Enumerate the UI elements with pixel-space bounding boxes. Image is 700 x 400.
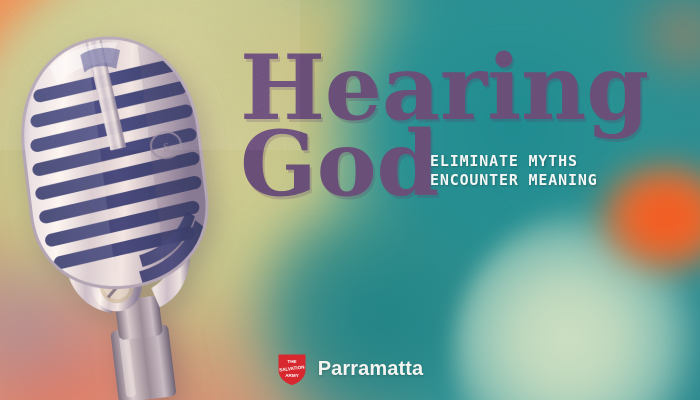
shield-text-the: THE (287, 359, 296, 364)
shield-text-army: ARMY (285, 373, 299, 378)
svg-text:S: S (162, 141, 170, 154)
salvation-army-shield-icon: THE SALVATION ARMY (277, 353, 307, 386)
footer-branding: THE SALVATION ARMY Parramatta (0, 353, 700, 386)
microphone-icon: S (0, 16, 260, 400)
poster-canvas: S Hearing God Eliminate Myths Encounter … (0, 0, 700, 400)
poster-subtitle: Eliminate Myths Encounter Meaning (430, 152, 598, 190)
subtitle-line-1: Eliminate Myths (430, 152, 598, 171)
brand-name: Parramatta (318, 358, 424, 381)
subtitle-line-2: Encounter Meaning (430, 171, 598, 190)
